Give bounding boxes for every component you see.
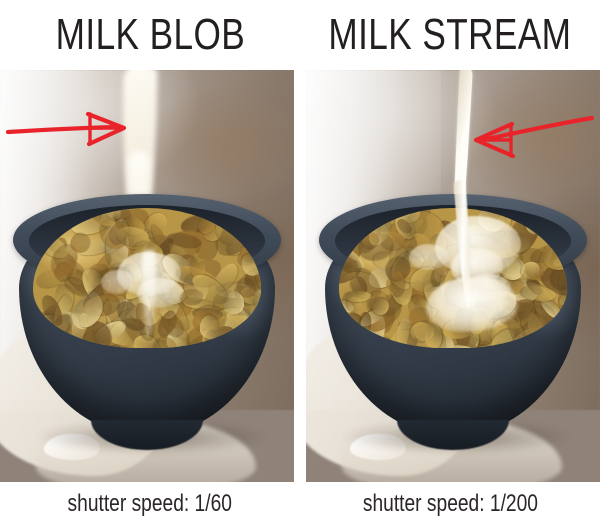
photo-scene-left (0, 70, 294, 482)
caption-cell-left: shutter speed: 1/60 (0, 482, 300, 526)
photo-panel-milk-stream (306, 70, 600, 482)
title-cell-right: MILK STREAM (300, 0, 600, 70)
panel-title-right: MILK STREAM (328, 13, 571, 57)
photo-scene-right (306, 70, 600, 482)
title-cell-left: MILK BLOB (0, 0, 300, 70)
captions-row: shutter speed: 1/60 shutter speed: 1/200 (0, 482, 600, 526)
milk-pour-shutter-speed-comparison: MILK BLOB MILK STREAM (0, 0, 600, 526)
panel-caption-right: shutter speed: 1/200 (362, 492, 537, 516)
panel-title-left: MILK BLOB (55, 13, 244, 57)
panel-divider (294, 70, 306, 482)
caption-cell-right: shutter speed: 1/200 (300, 482, 600, 526)
photo-panel-milk-blob (0, 70, 294, 482)
titles-row: MILK BLOB MILK STREAM (0, 0, 600, 70)
photo-panels-row (0, 70, 600, 482)
panel-caption-left: shutter speed: 1/60 (68, 492, 232, 516)
